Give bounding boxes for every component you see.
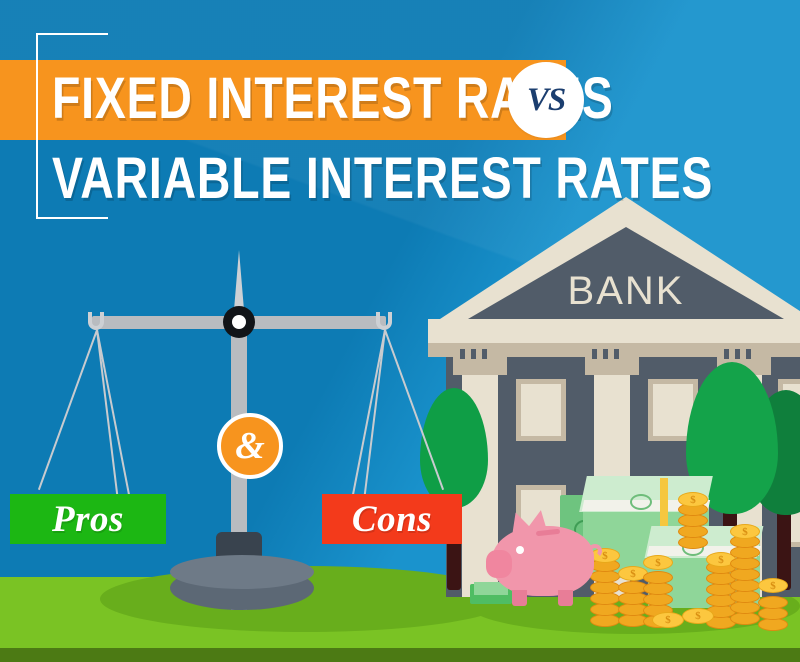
scale-string — [96, 330, 119, 499]
coin-stack: $ — [678, 492, 708, 552]
bank-dentil — [460, 349, 465, 359]
loose-coin: $ — [652, 612, 684, 628]
bank-dentil — [482, 349, 487, 359]
balance-scale: & — [30, 250, 450, 610]
scale-base-disc-top — [170, 555, 314, 589]
bill-seal — [630, 494, 652, 510]
scale-hook-right — [376, 312, 392, 330]
scale-string — [384, 330, 444, 490]
bank-column-capital — [585, 357, 639, 375]
cons-sign[interactable]: Cons — [322, 494, 462, 544]
coin-face: $ — [678, 492, 708, 507]
bank-window — [516, 379, 566, 441]
ampersand-badge: & — [217, 413, 283, 479]
piggy-eye — [516, 546, 524, 554]
headline-line-1: FIXED INTEREST RATES — [52, 70, 468, 128]
bank-dentil — [724, 349, 729, 359]
versus-label: VS — [527, 82, 565, 119]
coin-face: $ — [643, 555, 673, 570]
bank-dentil — [614, 349, 619, 359]
bank-dentil — [471, 349, 476, 359]
piggy-bank — [492, 516, 598, 600]
bank-sign-label: BANK — [440, 269, 800, 314]
bank-dentil — [592, 349, 597, 359]
headline-line-2: VARIABLE INTEREST RATES — [52, 150, 468, 208]
scale-pivot-dot — [232, 315, 246, 329]
infographic-canvas: BANK — [0, 0, 800, 662]
coin-face: $ — [758, 578, 788, 593]
pros-sign[interactable]: Pros — [10, 494, 166, 544]
bank-dentil — [603, 349, 608, 359]
scale-string — [352, 330, 386, 497]
piggy-leg — [512, 590, 527, 606]
bank-architrave — [428, 319, 800, 343]
piggy-leg — [558, 590, 573, 606]
coin-face: $ — [730, 524, 760, 539]
bank-column-capital — [453, 357, 507, 375]
bank-dentil — [735, 349, 740, 359]
versus-badge: VS — [508, 62, 584, 138]
headline-block: FIXED INTEREST RATES VARIABLE INTEREST R… — [52, 60, 572, 208]
coin-stack: $ — [730, 524, 760, 628]
coin-stack: $ — [758, 578, 788, 634]
ampersand-label: & — [235, 424, 265, 468]
ground-dark-strip — [0, 648, 800, 662]
scale-string — [38, 330, 98, 490]
bank-dentil — [746, 349, 751, 359]
scale-hook-left — [88, 312, 104, 330]
loose-coin: $ — [682, 608, 714, 624]
scale-pivot — [223, 306, 255, 338]
piggy-snout — [486, 550, 512, 578]
